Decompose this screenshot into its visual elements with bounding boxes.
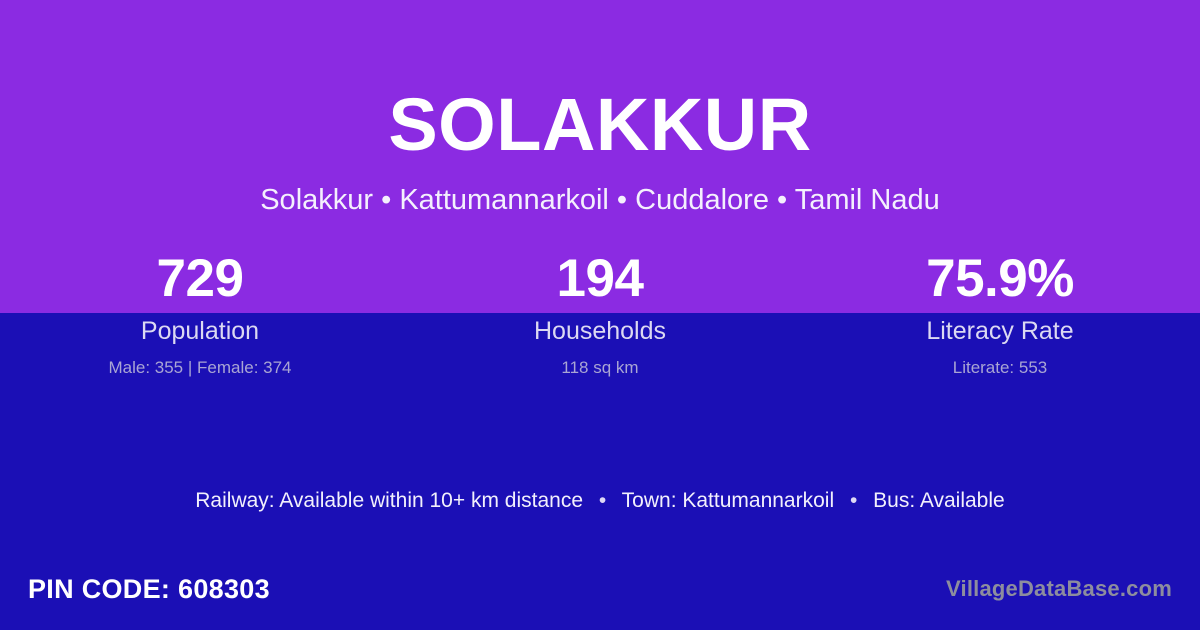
stat-literacy-rate-label: Literacy Rate [800,315,1200,347]
fact-bus: Bus: Available [873,489,1005,512]
stats-row: 729 Population Male: 355 | Female: 374 1… [0,245,1200,380]
stat-literacy-rate-sub: Literate: 553 [800,356,1200,380]
stat-households-value: 194 [400,245,800,313]
stat-population-value: 729 [0,245,400,313]
fact-separator-icon: • [589,486,616,516]
page-title: SOLAKKUR [0,80,1200,170]
pin-code: PIN CODE: 608303 [28,572,270,606]
stat-population: 729 Population Male: 355 | Female: 374 [0,245,400,380]
stat-households: 194 Households 118 sq km [400,245,800,380]
village-info-card: SOLAKKUR Solakkur • Kattumannarkoil • Cu… [0,0,1200,630]
stat-households-label: Households [400,315,800,347]
stat-population-sub: Male: 355 | Female: 374 [0,356,400,380]
fact-town: Town: Kattumannarkoil [622,489,834,512]
breadcrumb: Solakkur • Kattumannarkoil • Cuddalore •… [0,180,1200,220]
footer: PIN CODE: 608303 VillageDataBase.com [0,558,1200,630]
facts-row: Railway: Available within 10+ km distanc… [0,486,1200,516]
stat-literacy-rate-value: 75.9% [800,245,1200,313]
stat-literacy-rate: 75.9% Literacy Rate Literate: 553 [800,245,1200,380]
fact-railway: Railway: Available within 10+ km distanc… [195,489,583,512]
stat-households-sub: 118 sq km [400,356,800,380]
fact-separator-icon: • [840,486,867,516]
stat-population-label: Population [0,315,400,347]
brand-watermark: VillageDataBase.com [946,574,1172,604]
